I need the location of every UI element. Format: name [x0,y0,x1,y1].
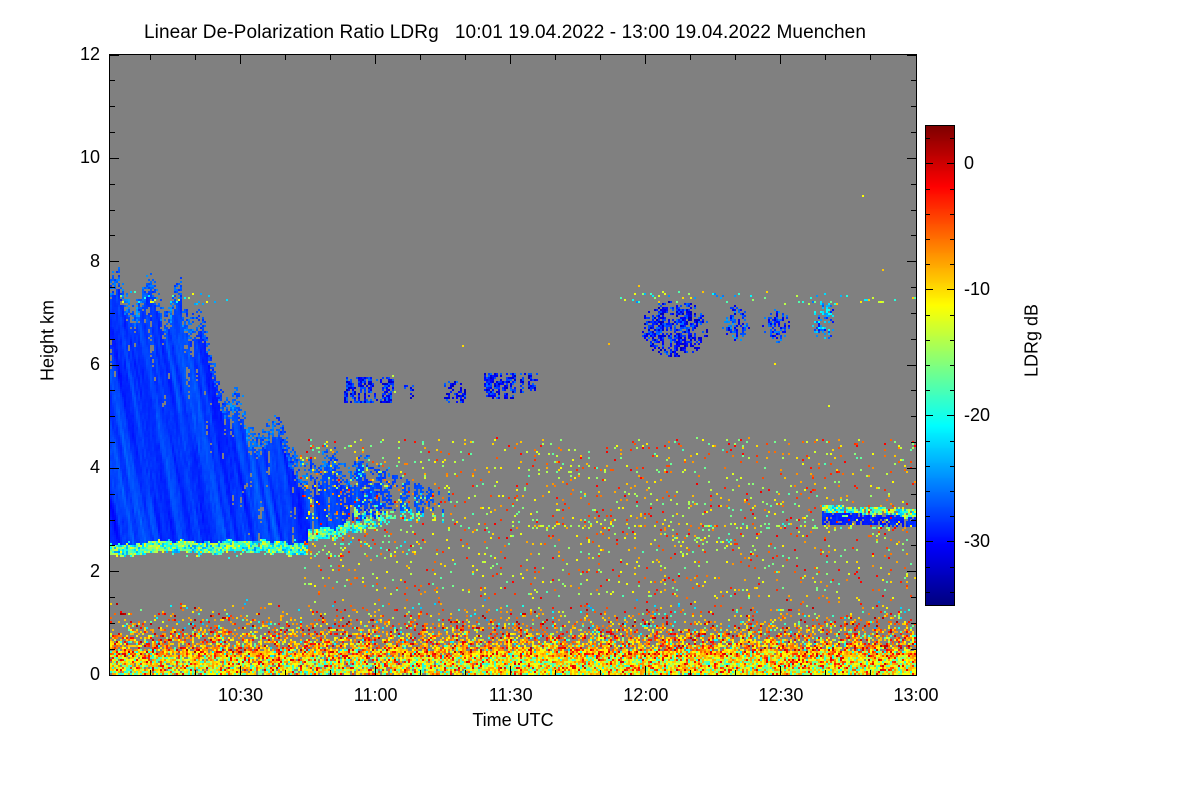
x-tick-label: 13:00 [866,685,966,706]
colorbar-title: LDRg dB [1022,271,1043,411]
y-tick-label: 12 [52,44,100,65]
x-tick-label: 12:30 [731,685,831,706]
y-tick-label: 8 [52,251,100,272]
radar-figure: Linear De-Polarization Ratio LDRg 10:01 … [0,0,1200,800]
ldr-heatmap-plot [110,55,916,675]
colorbar-tick-label: -20 [964,405,1014,426]
colorbar-tick-label: -10 [964,279,1014,300]
x-tick-label: 11:00 [326,685,426,706]
x-tick-label: 11:30 [461,685,561,706]
y-tick-label: 2 [52,561,100,582]
colorbar-gradient [926,126,954,605]
y-tick-label: 6 [52,354,100,375]
colorbar-tick-label: -30 [964,531,1014,552]
x-tick-label: 12:00 [596,685,696,706]
y-tick-label: 0 [52,664,100,685]
page-title: Linear De-Polarization Ratio LDRg 10:01 … [0,22,1010,44]
y-tick-label: 10 [52,147,100,168]
y-axis-title: Height km [38,271,59,411]
colorbar-tick-label: 0 [964,153,1014,174]
x-tick-label: 10:30 [191,685,291,706]
x-axis-title: Time UTC [110,710,916,731]
y-tick-label: 4 [52,457,100,478]
